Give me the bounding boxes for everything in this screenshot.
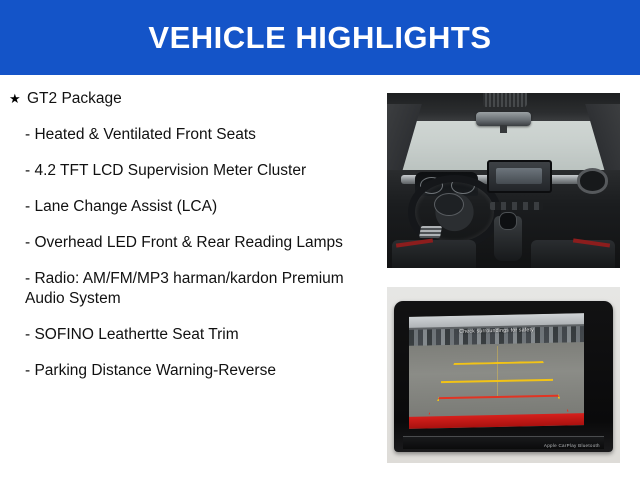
pedal-icon [419,226,442,238]
list-item: - SOFINO Leathertte Seat Trim [0,325,378,345]
screen-content [496,168,542,183]
feature-label: - Radio: AM/FM/MP3 harman/kardon Premium… [25,269,372,309]
air-vent-icon [577,168,609,193]
header-banner: VEHICLE HIGHLIGHTS [0,0,640,75]
connectivity-badge: Apple CarPlay Bluetooth [544,443,600,448]
red-guide-lines-icon [429,394,570,415]
list-item: - Lane Change Assist (LCA) [0,197,378,217]
steering-wheel-hub-logo [434,193,464,216]
feature-label: - Overhead LED Front & Rear Reading Lamp… [25,233,372,253]
vehicle-features-list: ★ GT2 Package - Heated & Ventilated Fron… [0,75,378,397]
roof-console-icon [483,93,527,107]
star-bullet-icon: ★ [9,89,27,109]
feature-label: GT2 Package [27,89,372,109]
list-item: - Heated & Ventilated Front Seats [0,125,378,145]
feature-label: - Heated & Ventilated Front Seats [25,125,372,145]
page-title: VEHICLE HIGHLIGHTS [148,22,491,53]
feature-label: - Lane Change Assist (LCA) [25,197,372,217]
feature-label: - SOFINO Leathertte Seat Trim [25,325,372,345]
list-item: - Parking Distance Warning-Reverse [0,361,378,381]
content-area: ★ GT2 Package - Heated & Ventilated Fron… [0,75,640,480]
list-item: - Overhead LED Front & Rear Reading Lamp… [0,233,378,253]
list-item: - Radio: AM/FM/MP3 harman/kardon Premium… [0,269,378,309]
list-item: - 4.2 TFT LCD Supervision Meter Cluster [0,161,378,181]
infotainment-screen [487,160,552,194]
feature-label: - 4.2 TFT LCD Supervision Meter Cluster [25,161,372,181]
head-unit-body: Check surroundings for safety Apple CarP… [394,301,613,452]
vehicle-interior-photo[interactable] [387,93,620,268]
gear-shifter-icon [499,212,517,230]
camera-display-screen: Check surroundings for safety [409,313,584,429]
climate-control-buttons [490,202,544,211]
backup-camera-photo[interactable]: Check surroundings for safety Apple CarP… [387,287,620,463]
mirror-stem [500,125,507,134]
list-item: ★ GT2 Package [0,89,378,109]
feature-label: - Parking Distance Warning-Reverse [25,361,372,381]
